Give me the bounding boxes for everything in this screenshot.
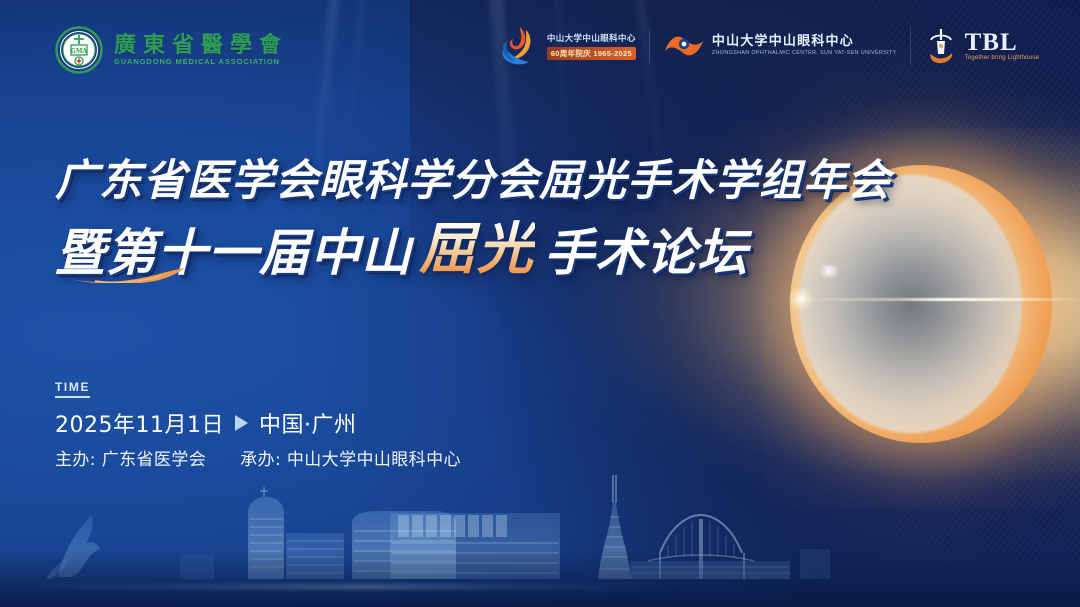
title-block: 广东省医学会眼科学分会屈光手术学组年会 暨第十一届中山 屈光 手术论坛: [55, 158, 885, 279]
event-meta: TIME 2025年11月1日 中国·广州: [55, 378, 356, 439]
anniversary-years: 60周年院庆 1965-2025: [547, 47, 636, 60]
conference-poster: GMA 廣東省醫學會 GUANGDONG MEDICAL ASSOCIATION…: [0, 0, 1080, 607]
event-date: 2025年11月1日: [55, 407, 224, 439]
gma-seal-icon: GMA: [55, 26, 103, 74]
title-line2-accent: 屈光: [419, 220, 535, 279]
svg-text:GMA: GMA: [71, 48, 88, 55]
zoc-name-cn: 中山大学中山眼科中心: [712, 35, 897, 48]
tbl-tagline: Together bring Lighthouse: [965, 55, 1039, 61]
gma-name-cn: 廣東省醫學會: [114, 34, 288, 56]
lens-light-streak: [784, 298, 1080, 301]
logo-guangdong-medical-association: GMA 廣東省醫學會 GUANGDONG MEDICAL ASSOCIATION: [55, 26, 288, 74]
organizer-text: 主办: 广东省医学会: [55, 445, 206, 470]
lens-flare-dot: [788, 285, 814, 311]
logo-bar: GMA 廣東省醫學會 GUANGDONG MEDICAL ASSOCIATION…: [0, 0, 1080, 96]
title-line2-suffix: 手术论坛: [544, 227, 748, 280]
logo-zoc-60th-anniversary: 中山大学中山眼科中心 60周年院庆 1965-2025: [487, 24, 649, 68]
gma-name-en: GUANGDONG MEDICAL ASSOCIATION: [114, 58, 288, 66]
main-title-line2: 暨第十一届中山 屈光 手术论坛: [55, 220, 885, 279]
undertaker-text: 承办: 中山大学中山眼科中心: [240, 445, 461, 470]
title-line2-prefix: 暨第十一届中山: [55, 227, 412, 280]
event-location: 中国·广州: [259, 407, 357, 439]
zoc-name-en: ZHONGSHAN OPHTHALMIC CENTER, SUN YAT-SEN…: [712, 51, 897, 56]
tbl-wordmark: TBL: [965, 31, 1039, 55]
triangle-separator-icon: [235, 415, 248, 431]
organizer-row: 主办: 广东省医学会 承办: 中山大学中山眼科中心: [55, 445, 461, 470]
tbl-lighthouse-icon: [924, 27, 958, 65]
date-location-row: 2025年11月1日 中国·广州: [55, 407, 356, 439]
main-title-line1: 广东省医学会眼科学分会屈光手术学组年会: [55, 158, 885, 204]
logo-zhongshan-ophthalmic-center: 中山大学中山眼科中心 ZHONGSHAN OPHTHALMIC CENTER, …: [649, 29, 910, 63]
time-label: TIME: [55, 380, 90, 398]
logo-tbl: TBL Together bring Lighthouse: [910, 27, 1052, 65]
anniversary-60-icon: [500, 24, 540, 68]
partner-logos: 中山大学中山眼科中心 60周年院庆 1965-2025 中山大学中山眼科中心 Z…: [487, 24, 1052, 68]
zoc-eye-mark-icon: [663, 29, 705, 63]
anniversary-name-cn: 中山大学中山眼科中心: [547, 32, 636, 44]
